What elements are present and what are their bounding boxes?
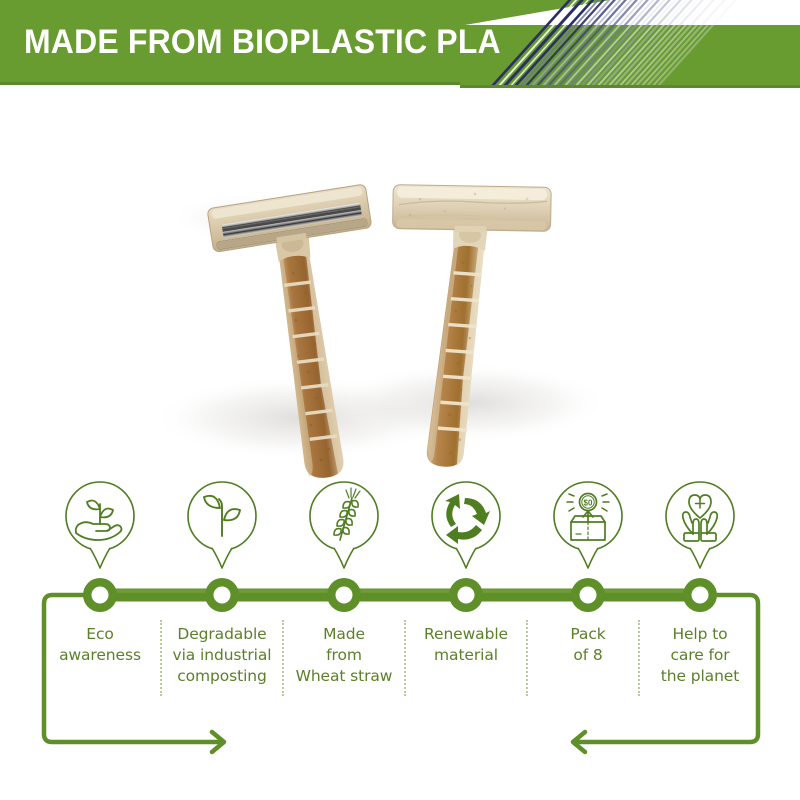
forward-arrow-head [212,732,224,752]
return-arrow-head [573,732,585,752]
feature-label-6-line-2: care for [641,645,759,666]
feature-label-6-line-3: the planet [641,666,759,687]
feature-label-4-line-2: material [407,645,525,666]
feature-label-5-line-1: Pack [529,624,647,645]
page-title: MADE FROM BIOPLASTIC PLA [24,0,501,85]
recycle-icon [429,478,503,570]
feature-icon-bubble-3[interactable] [307,478,381,566]
feature-label-1: Eco awareness [41,624,159,666]
hand-plant-icon [63,478,137,570]
label-divider-4 [526,620,528,696]
sprout-icon [185,478,259,570]
feature-label-6: Help to care for the planet [641,624,759,687]
feature-icon-bubble-6[interactable] [663,478,737,566]
hands-heart-care-icon [663,478,737,570]
feature-label-4-line-1: Renewable [407,624,525,645]
product-image-area [0,88,800,478]
feature-label-4: Renewable material [407,624,525,666]
wheat-icon [307,478,381,570]
feature-label-2-line-1: Degradable [163,624,281,645]
feature-icon-bubble-1[interactable] [63,478,137,566]
feature-label-2: Degradable via industrial composting [163,624,281,687]
feature-icon-bubble-5[interactable]: $0 [551,478,625,566]
feature-label-3: Made from Wheat straw [285,624,403,687]
label-divider-5 [638,620,640,696]
label-divider-1 [160,620,162,696]
feature-label-3-line-1: Made [285,624,403,645]
header-banner: MADE FROM BIOPLASTIC PLA [0,0,800,88]
feature-icon-bubble-4[interactable] [429,478,503,566]
infographic-page: MADE FROM BIOPLASTIC PLA [0,0,800,800]
feature-label-1-line-2: awareness [41,645,159,666]
timeline-nodes [83,578,717,612]
feature-label-3-line-3: Wheat straw [285,666,403,687]
label-divider-3 [404,620,406,696]
feature-label-3-line-2: from [285,645,403,666]
feature-label-2-line-2: via industrial [163,645,281,666]
feature-label-5: Pack of 8 [529,624,647,666]
zero-cost-badge: $0 [584,499,593,508]
feature-label-5-line-2: of 8 [529,645,647,666]
feature-label-1-line-1: Eco [41,624,159,645]
feature-icon-bubble-2[interactable] [185,478,259,566]
feature-label-2-line-3: composting [163,666,281,687]
box-zero-cost-icon: $0 [551,478,625,570]
features-timeline-section: $0 [0,478,800,800]
feature-label-6-line-1: Help to [641,624,759,645]
razor-product-illustration [0,88,800,478]
label-divider-2 [282,620,284,696]
